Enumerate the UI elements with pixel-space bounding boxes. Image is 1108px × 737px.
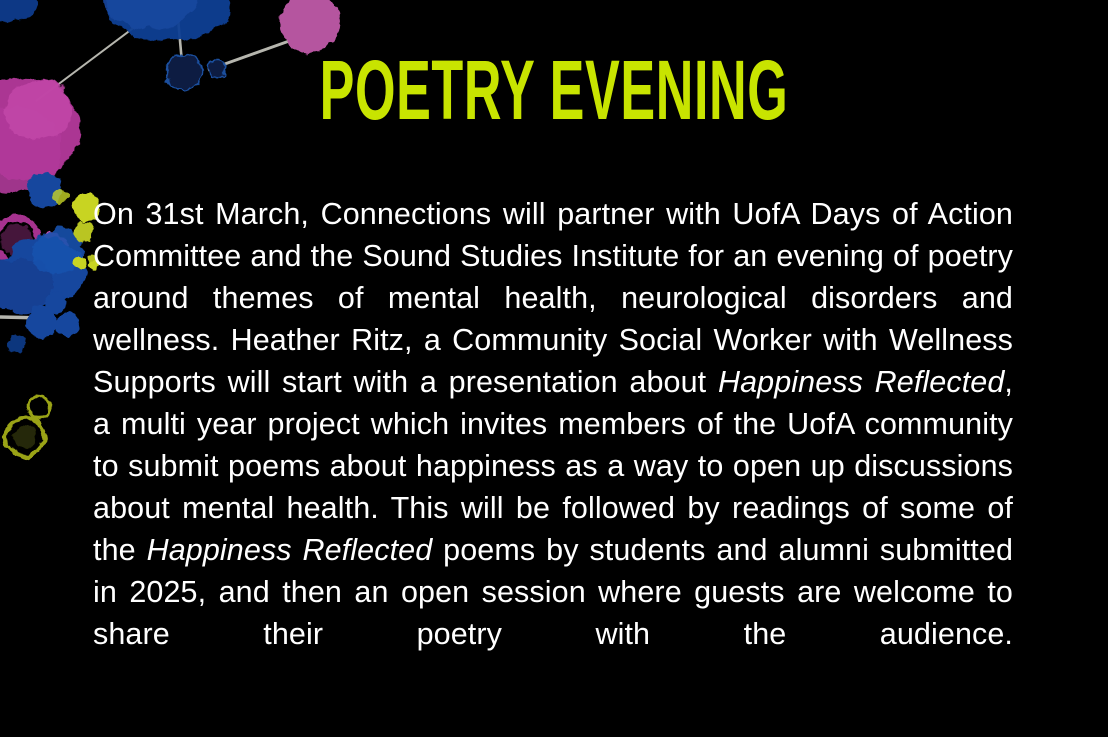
blob-blue-dot-mini [26, 172, 67, 208]
event-description: On 31st March, Connections will partner … [93, 193, 1013, 697]
blob-blue-splatter-top [102, 0, 230, 42]
blob-blue-splatter-corner [0, 0, 38, 22]
project-title-first: Happiness Reflected [718, 365, 1004, 399]
page-title: POETRY EVENING [211, 47, 898, 133]
blob-olive-ring-large [6, 418, 44, 456]
connector-blue-to-ring [178, 18, 182, 63]
blob-blue-dot-lower [26, 291, 80, 338]
blob-pink-ring-upper [0, 218, 38, 262]
blob-olive-ring-small [28, 396, 50, 418]
blob-chartreuse-dot-medium [72, 221, 94, 243]
connector-blue-mid-left [0, 272, 34, 286]
connector-magenta-to-blue [36, 8, 160, 101]
blob-blue-splatter-mid [0, 230, 87, 313]
connector-blue-lower [0, 317, 45, 318]
blob-speck-cluster [7, 254, 96, 354]
blob-magenta-splatter-left [0, 76, 80, 194]
project-title-second: Happiness Reflected [147, 533, 433, 567]
blob-pink-ring-small [40, 235, 66, 261]
blob-blue-ring-medium [166, 54, 202, 90]
poetry-evening-slide: POETRY EVENING On 31st March, Connection… [0, 0, 1108, 737]
